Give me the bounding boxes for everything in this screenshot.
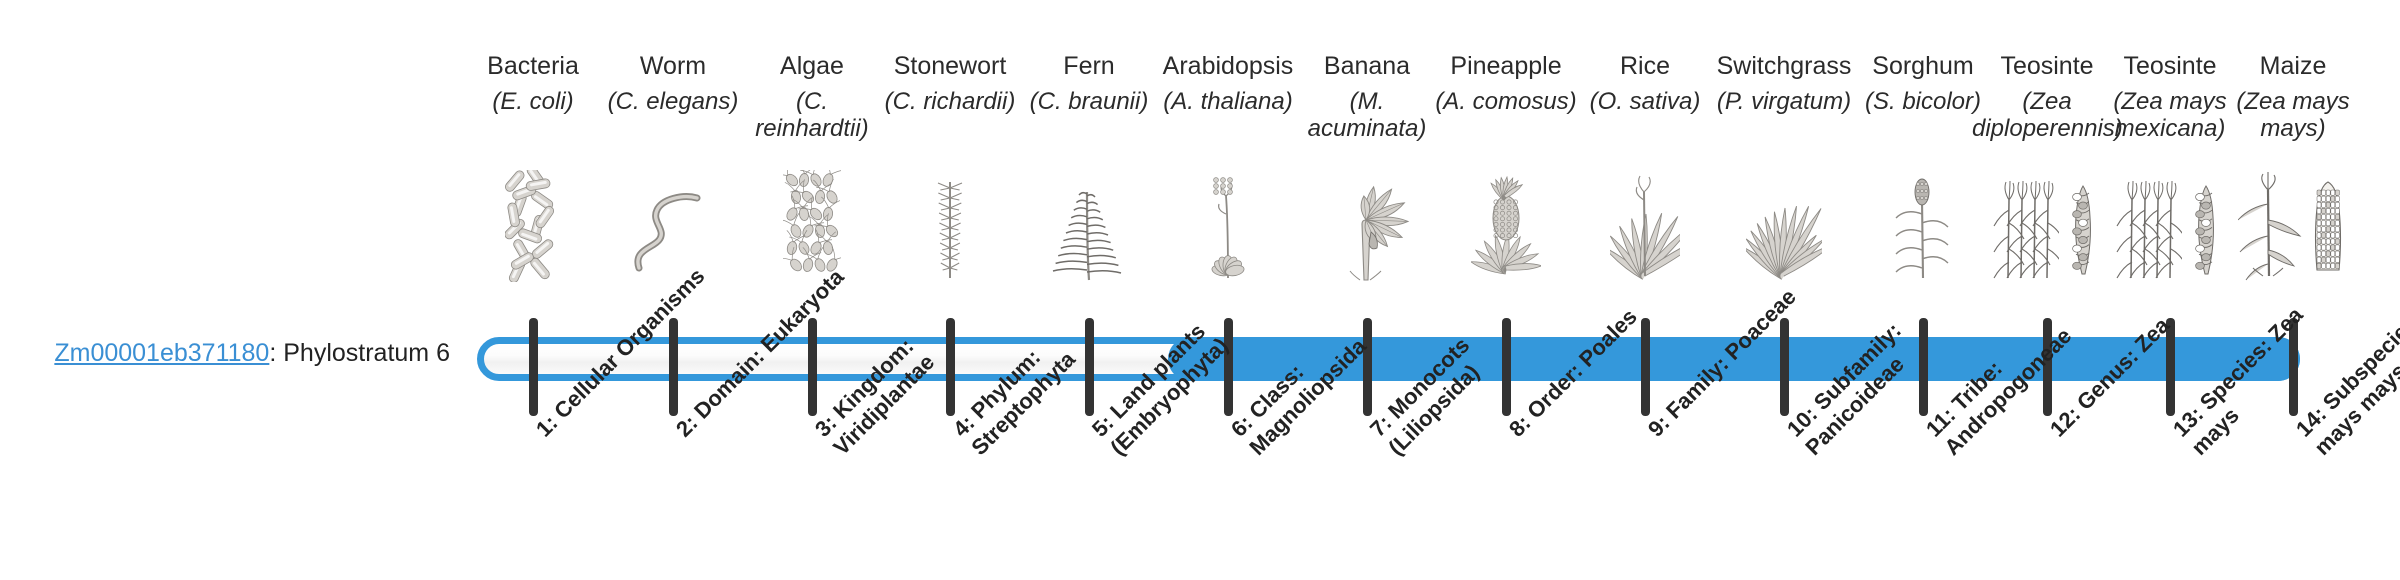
- nematode-worm-icon: [598, 172, 748, 282]
- banana-plant-icon: [1292, 172, 1442, 282]
- tick-mark: [669, 318, 678, 416]
- species-common-name: Maize: [2218, 52, 2368, 80]
- tick-mark: [1641, 318, 1650, 416]
- tick-mark: [529, 318, 538, 416]
- species-common-name: Stonewort: [875, 52, 1025, 80]
- tick-mark: [1780, 318, 1789, 416]
- maize-icon: [2218, 172, 2368, 282]
- species-column: Stonewort(C. richardii): [875, 52, 1025, 116]
- species-common-name: Rice: [1570, 52, 1720, 80]
- tick-mark: [808, 318, 817, 416]
- species-scientific-name: (C. richardii): [875, 89, 1025, 116]
- species-common-name: Arabidopsis: [1153, 52, 1303, 80]
- species-scientific-name: (A. thaliana): [1153, 89, 1303, 116]
- phylostratum-figure: Zm00001eb371180: Phylostratum 6 Bacteria…: [0, 0, 2400, 580]
- species-common-name: Fern: [1014, 52, 1164, 80]
- species-scientific-name: (M. acuminata): [1292, 89, 1442, 143]
- species-column: Pineapple(A. comosus): [1431, 52, 1581, 116]
- pineapple-icon: [1431, 172, 1581, 282]
- gene-label-separator: :: [269, 339, 283, 367]
- species-common-name: Banana: [1292, 52, 1442, 80]
- bacteria-rods-icon: [458, 172, 608, 282]
- species-column: Rice(O. sativa): [1570, 52, 1720, 116]
- stonewort-icon: [875, 172, 1025, 282]
- species-scientific-name: (C. braunii): [1014, 89, 1164, 116]
- species-common-name: Pineapple: [1431, 52, 1581, 80]
- species-scientific-name: (C. elegans): [598, 89, 748, 116]
- species-column: Arabidopsis(A. thaliana): [1153, 52, 1303, 116]
- species-scientific-name: (P. virgatum): [1709, 89, 1859, 116]
- fern-frond-icon: [1014, 172, 1164, 282]
- rice-plant-icon: [1570, 172, 1720, 282]
- switchgrass-icon: [1709, 172, 1859, 282]
- species-column: Fern(C. braunii): [1014, 52, 1164, 116]
- algae-cells-icon: [737, 172, 887, 282]
- species-common-name: Bacteria: [458, 52, 608, 80]
- species-common-name: Algae: [737, 52, 887, 80]
- arabidopsis-icon: [1153, 172, 1303, 282]
- species-scientific-name: (O. sativa): [1570, 89, 1720, 116]
- species-column: Worm(C. elegans): [598, 52, 748, 116]
- phylostratum-text: Phylostratum 6: [283, 339, 450, 367]
- species-column: Algae(C. reinhardtii): [737, 52, 887, 143]
- species-scientific-name: (C. reinhardtii): [737, 89, 887, 143]
- species-column: Switchgrass(P. virgatum): [1709, 52, 1859, 116]
- gene-id-link[interactable]: Zm00001eb371180: [54, 339, 269, 367]
- species-scientific-name: (Zea mays mays): [2218, 89, 2368, 143]
- species-column: Bacteria(E. coli): [458, 52, 608, 116]
- species-scientific-name: (E. coli): [458, 89, 608, 116]
- species-scientific-name: (A. comosus): [1431, 89, 1581, 116]
- gene-phylostratum-label: Zm00001eb371180: Phylostratum 6: [40, 340, 450, 368]
- species-column: Banana(M. acuminata): [1292, 52, 1442, 143]
- species-column: Maize(Zea mays mays): [2218, 52, 2368, 143]
- species-common-name: Worm: [598, 52, 748, 80]
- species-common-name: Switchgrass: [1709, 52, 1859, 80]
